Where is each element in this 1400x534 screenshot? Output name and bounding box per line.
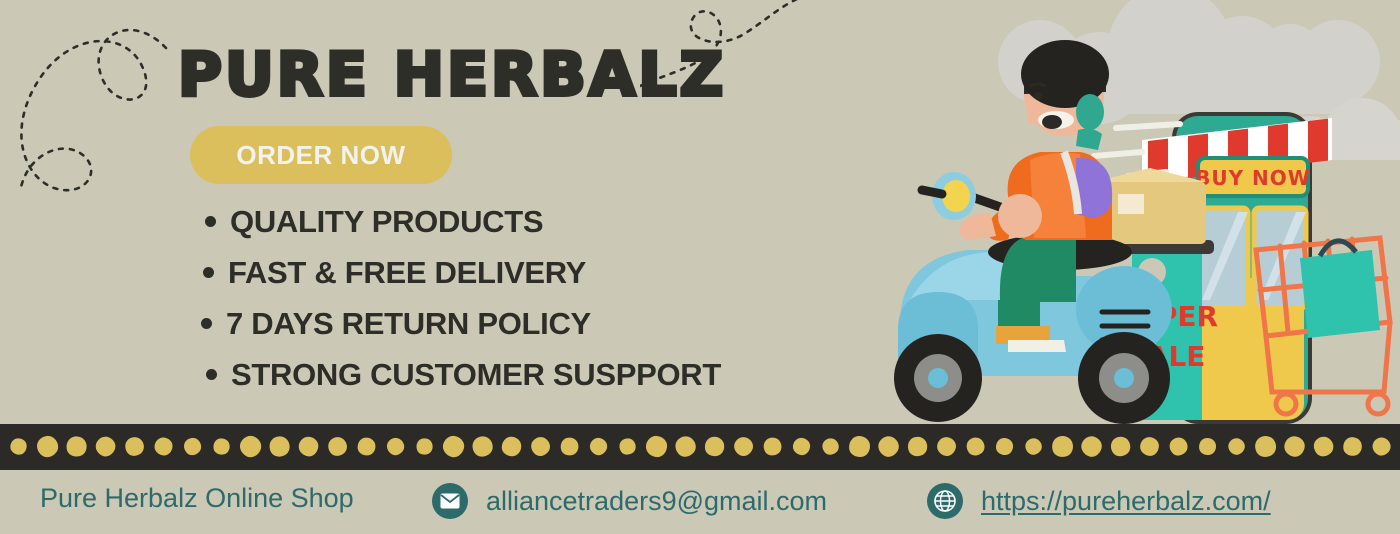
promo-banner: PURE HERBALZ ORDER NOW QUALITY PRODUCTS … xyxy=(0,0,1400,534)
buy-now-sign-text: BUY NOW xyxy=(1195,166,1311,190)
divider-dot xyxy=(848,435,872,459)
divider-dot xyxy=(996,438,1014,456)
bullet-icon xyxy=(206,369,217,380)
divider-dot xyxy=(703,435,726,458)
divider-dot xyxy=(792,437,812,457)
divider-dot xyxy=(1226,436,1248,458)
divider-dot xyxy=(1140,437,1160,457)
divider-dot xyxy=(1049,433,1076,460)
divider-dot xyxy=(154,437,173,456)
divider-dot xyxy=(935,435,958,458)
benefit-label: QUALITY PRODUCTS xyxy=(230,204,543,240)
order-now-label: ORDER NOW xyxy=(236,140,405,171)
divider-dot xyxy=(671,432,700,461)
list-item: FAST & FREE DELIVERY xyxy=(0,247,860,298)
divider-dot xyxy=(1342,436,1363,457)
footer-website[interactable]: https://pureherbalz.com/ xyxy=(927,483,1271,519)
divider-dot xyxy=(645,435,668,458)
divider-dot xyxy=(1283,435,1306,458)
divider-dot xyxy=(212,437,231,456)
divider-dot xyxy=(760,434,784,458)
globe-icon xyxy=(927,483,963,519)
divider-dot xyxy=(731,434,756,459)
divider-dot xyxy=(1310,433,1338,461)
divider-dot xyxy=(93,434,118,459)
divider-dot xyxy=(502,437,522,457)
divider-dot xyxy=(558,435,580,457)
benefit-label: FAST & FREE DELIVERY xyxy=(228,255,586,291)
divider-dot xyxy=(324,433,350,459)
divider-dot xyxy=(441,434,467,460)
divider-dot xyxy=(616,435,639,458)
footer-bar: Pure Herbalz Online Shop alliancetraders… xyxy=(0,470,1400,534)
divider-dot xyxy=(180,434,204,458)
page-title: PURE HERBALZ xyxy=(178,44,726,106)
divider-dot xyxy=(527,433,553,459)
benefit-label: STRONG CUSTOMER SUSPPORT xyxy=(231,357,721,393)
divider-dot xyxy=(236,432,264,460)
shop-name-label: Pure Herbalz Online Shop xyxy=(40,483,354,514)
divider-dot xyxy=(357,437,377,457)
divider-dot xyxy=(1107,433,1134,460)
bullet-icon xyxy=(203,267,214,278)
divider-dot xyxy=(1022,435,1045,458)
list-item: 7 DAYS RETURN POLICY xyxy=(0,298,860,349)
divider-dot xyxy=(1251,432,1280,461)
divider-dot xyxy=(122,434,148,460)
divider-dot xyxy=(963,434,988,459)
benefits-list: QUALITY PRODUCTS FAST & FREE DELIVERY 7 … xyxy=(0,196,860,400)
divider-dot xyxy=(297,435,320,458)
divider-dot xyxy=(33,432,63,462)
divider-dot xyxy=(64,434,89,459)
bullet-icon xyxy=(205,216,216,227)
order-now-button[interactable]: ORDER NOW xyxy=(190,126,452,184)
dotted-divider-strip xyxy=(0,424,1400,470)
divider-dot xyxy=(1079,434,1105,460)
list-item: STRONG CUSTOMER SUSPPORT xyxy=(0,349,860,400)
divider-dot xyxy=(588,436,610,458)
divider-dot xyxy=(1197,436,1218,457)
divider-dot xyxy=(875,433,903,461)
scooter-rider-graphic xyxy=(894,40,1214,424)
divider-dot xyxy=(1166,434,1191,459)
website-link-label[interactable]: https://pureherbalz.com/ xyxy=(981,486,1271,517)
divider-dot xyxy=(414,436,435,457)
mail-icon xyxy=(432,483,468,519)
divider-dot xyxy=(468,432,496,460)
hero-content: PURE HERBALZ ORDER NOW QUALITY PRODUCTS … xyxy=(0,0,880,424)
list-item: QUALITY PRODUCTS xyxy=(0,196,860,247)
benefit-label: 7 DAYS RETURN POLICY xyxy=(226,306,591,342)
bullet-icon xyxy=(201,318,212,329)
email-label: alliancetraders9@gmail.com xyxy=(486,486,827,517)
divider-dot xyxy=(384,435,408,459)
divider-dot xyxy=(819,435,842,458)
delivery-illustration: BUY NOW SUPER SALE xyxy=(880,0,1400,440)
divider-dot xyxy=(266,433,293,460)
footer-shop-name: Pure Herbalz Online Shop xyxy=(40,483,354,514)
footer-email[interactable]: alliancetraders9@gmail.com xyxy=(432,483,827,519)
divider-dot xyxy=(10,438,26,454)
divider-dot xyxy=(905,434,931,460)
divider-dot xyxy=(1369,434,1393,458)
